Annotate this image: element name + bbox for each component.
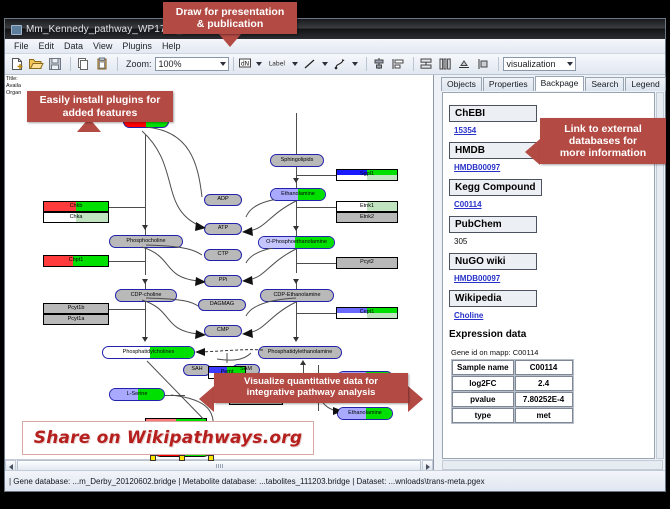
edge-sgpl1-to-backbone [296,175,336,176]
datanode-dropdown[interactable] [255,57,264,71]
callout-draw-text: Draw for presentation & publication [176,6,285,30]
gene-cept1[interactable]: Cept1 [336,307,398,319]
row-label: log2FC [452,376,514,391]
line-icon[interactable] [302,56,318,72]
share-banner-text: Share on Wikipathways.org [34,428,302,448]
save-icon[interactable] [47,56,63,72]
node-label: Phosphocholine [126,239,165,245]
toolbar-separator-6 [498,57,499,71]
callout-link-pointer [525,139,540,165]
edge-lserine-link [165,395,185,396]
node-phosphatidylethanolamine[interactable]: Phosphatidylethanolamine [258,346,342,359]
arrow-pld1-to-pe [300,360,306,365]
curve-choline-adp [140,125,220,240]
callout-link: Link to external databases for more info… [540,118,666,164]
svg-text:dN: dN [240,60,248,67]
interaction-icon[interactable] [332,56,348,72]
side-panel-hscrollbar[interactable] [442,460,663,470]
stack-icon[interactable] [418,56,434,72]
table-row: type met [452,408,573,423]
toolbar-separator-4 [366,57,367,71]
callout-plugins: Easily install plugins for added feature… [27,91,173,122]
chevron-down-icon [322,62,328,66]
edge-cept1-to-backbone [296,313,336,314]
svg-text:Label: Label [268,61,285,68]
db-header-hmdb: HMDB [449,142,537,159]
node-l-serine-left[interactable]: L-Serine [109,388,165,401]
db-link-wikipedia[interactable]: Choline [454,311,650,320]
row-value: C00114 [515,360,573,375]
share-banner: Share on Wikipathways.org [22,421,314,455]
row-label: type [452,408,514,423]
tab-objects[interactable]: Objects [441,77,482,91]
node-label: CTP [218,252,229,258]
zoom-label: Zoom: [126,59,152,69]
toolbar-separator-5 [413,57,414,71]
curve-ethanolamine-loop [242,195,300,237]
db-value-pubchem: 305 [454,237,650,246]
info-line-available: Availa [6,83,21,90]
menu-plugins[interactable]: Plugins [117,39,157,54]
node-label: CDP-choline [131,293,162,299]
chevron-down-icon [256,62,262,66]
db-link-kegg[interactable]: C00114 [454,200,650,209]
node-label: CMP [217,328,229,334]
gene-pcyt2[interactable]: Pcyt2 [336,257,398,269]
align-center-icon[interactable] [371,56,387,72]
edge-pcyt2-to-backbone [296,263,336,264]
info-line-organism: Organ [6,90,21,97]
gene-chkb[interactable]: Chkb [43,201,109,212]
side-panel-tabs: Objects Properties Backpage Search Legen… [441,77,663,91]
chevron-down-icon [220,62,226,66]
table-row: Sample name C00114 [452,360,573,375]
curve-cdpcholine-dagmag [140,296,220,340]
node-label: Phosphatidylethanolamine [268,350,333,356]
info-line-title: Title: [6,76,21,83]
node-label: Cept1 [360,310,375,316]
node-label: ADP [217,197,228,203]
node-label: Chka [70,215,83,221]
window-titlebar: Mm_Kennedy_pathway_WP1771_45176.gpml [5,19,665,39]
app-icon [10,23,22,35]
label-dropdown[interactable] [291,57,300,71]
toolbar-separator-1 [70,57,71,71]
node-label: DAGMAG [210,302,234,308]
edge-etnk-to-backbone [296,207,336,208]
node-ethanolamine[interactable]: Ethanolamine [270,188,326,201]
toolbar-separator-2 [117,57,118,71]
interaction-dropdown[interactable] [351,57,360,71]
callout-draw-pointer [218,33,242,47]
new-icon[interactable] [9,56,25,72]
statusbar: | Gene database: ...m_Derby_20120602.bri… [5,470,665,491]
paste-icon[interactable] [94,56,110,72]
distribute-icon[interactable] [437,56,453,72]
callout-draw: Draw for presentation & publication [163,2,297,34]
menu-edit[interactable]: Edit [34,39,60,54]
tab-properties[interactable]: Properties [483,77,534,91]
toolbar: Zoom: 100% dN Label [5,54,665,75]
menubar: File Edit Data View Plugins Help [5,39,665,54]
table-row: log2FC 2.4 [452,376,573,391]
callout-visualize-pointer-right [408,386,423,412]
node-label: SAH [191,367,202,373]
visualization-value: visualization [507,59,556,69]
gene-sgpl1[interactable]: Sgpl1 [336,169,398,181]
row-value: 2.4 [515,376,573,391]
node-label: SAM [240,367,252,373]
db-link-hmdb[interactable]: HMDB00097 [454,163,650,172]
gene-etnk2[interactable]: Etnk2 [336,212,398,223]
expression-table: Sample name C00114 log2FC 2.4 pvalue 7.8… [451,359,574,424]
callout-visualize-text: Visualize quantitative data for integrat… [244,377,378,399]
open-folder-icon[interactable] [28,56,44,72]
node-label: L-Serine [127,392,148,398]
line-dropdown[interactable] [321,57,330,71]
gene-etnk1[interactable]: Etnk1 [336,201,398,212]
screenshot-frame: Mm_Kennedy_pathway_WP1771_45176.gpml Fil… [0,0,670,509]
menu-file[interactable]: File [9,39,34,54]
label-button[interactable]: Label [266,56,288,72]
callout-visualize: Visualize quantitative data for integrat… [214,373,408,403]
zoom-combo[interactable]: 100% [155,57,229,71]
pathway-canvas-pane[interactable]: Title: Availa Organ Choline [5,75,434,471]
callout-visualize-pointer [199,386,214,412]
db-header-chebi: ChEBI [449,105,537,122]
zoom-value: 100% [159,59,182,69]
menu-help[interactable]: Help [157,39,186,54]
node-label: Phosphatidylcholines [123,350,175,356]
node-label: Pcyt1a [68,317,85,323]
datanode-icon[interactable]: dN [238,56,252,72]
node-label: Sgpl1 [360,172,374,178]
node-label: Pcyt1b [68,306,85,312]
node-label: ATP [218,226,228,232]
chevron-down-icon [292,62,298,66]
node-sphingolipids[interactable]: Sphingolipids [270,154,324,167]
visualization-combo[interactable]: visualization [503,57,576,71]
gene-pcyt1a[interactable]: Pcyt1a [43,314,109,325]
node-label: Pcyt2 [360,260,374,266]
menu-data[interactable]: Data [59,39,88,54]
node-ethanolamine-right[interactable]: Ethanolamine [337,407,393,420]
db-header-kegg: Kegg Compound [449,179,542,196]
row-label: Sample name [452,360,514,375]
node-label: Etnk1 [360,204,374,210]
selection-handle[interactable] [150,455,156,461]
tab-search[interactable]: Search [585,77,624,91]
order-icon[interactable] [456,56,472,72]
copy-icon[interactable] [75,56,91,72]
group-icon[interactable] [475,56,491,72]
row-label: pvalue [452,392,514,407]
row-value: met [515,408,573,423]
node-o-phosphoethanolamine[interactable]: O-Phosphoethanolamine [258,236,335,249]
toolbar-separator-3 [233,57,234,71]
chevron-down-icon [352,62,358,66]
node-label: Sphingolipids [281,158,314,164]
db-link-nugowiki[interactable]: HMDB00097 [454,274,650,283]
row-value: 7.80252E-4 [515,392,573,407]
menu-view[interactable]: View [88,39,117,54]
callout-link-text: Link to external databases for more info… [560,123,646,159]
selection-handle[interactable] [208,455,214,461]
statusbar-text: | Gene database: ...m_Derby_20120602.bri… [5,477,485,486]
tab-legend[interactable]: Legend [625,77,665,91]
node-phosphatidylcholines[interactable]: Phosphatidylcholines [102,346,195,359]
callout-plugins-text: Easily install plugins for added feature… [40,94,161,118]
node-label: O-Phosphoethanolamine [266,240,327,246]
gene-id-line: Gene id on mapp: C00114 [451,348,650,357]
gene-chpt1[interactable]: Chpt1 [43,255,109,267]
align-left-icon[interactable] [390,56,406,72]
expression-data-title: Expression data [449,329,650,340]
curve-phosphocholine-ctp [140,243,220,287]
db-header-wikipedia: Wikipedia [449,290,537,307]
table-row: pvalue 7.80252E-4 [452,392,573,407]
node-label: PPi [219,278,228,284]
node-label: Ethanolamine [348,411,382,417]
chevron-down-icon [567,62,573,66]
tab-backpage[interactable]: Backpage [535,76,585,91]
curve-cdpetn-loop [242,296,300,340]
gene-pcyt1b[interactable]: Pcyt1b [43,303,109,314]
gene-chka[interactable]: Chka [43,212,109,223]
node-label: Chpt1 [69,258,84,264]
selection-handle[interactable] [179,455,185,461]
node-label: Ethanolamine [281,192,315,198]
db-header-pubchem: PubChem [449,216,537,233]
node-label: Chkb [70,204,83,210]
db-header-nugowiki: NuGO wiki [449,253,537,270]
node-label: CDP-Ethanolamine [273,293,320,299]
arrow-to-ethanolamine [293,178,299,183]
pathway-canvas[interactable]: Title: Availa Organ Choline [5,75,433,471]
node-label: Etnk2 [360,215,374,221]
pathway-info-strip: Title: Availa Organ [6,76,21,97]
curve-ophospho-loop [242,243,300,287]
